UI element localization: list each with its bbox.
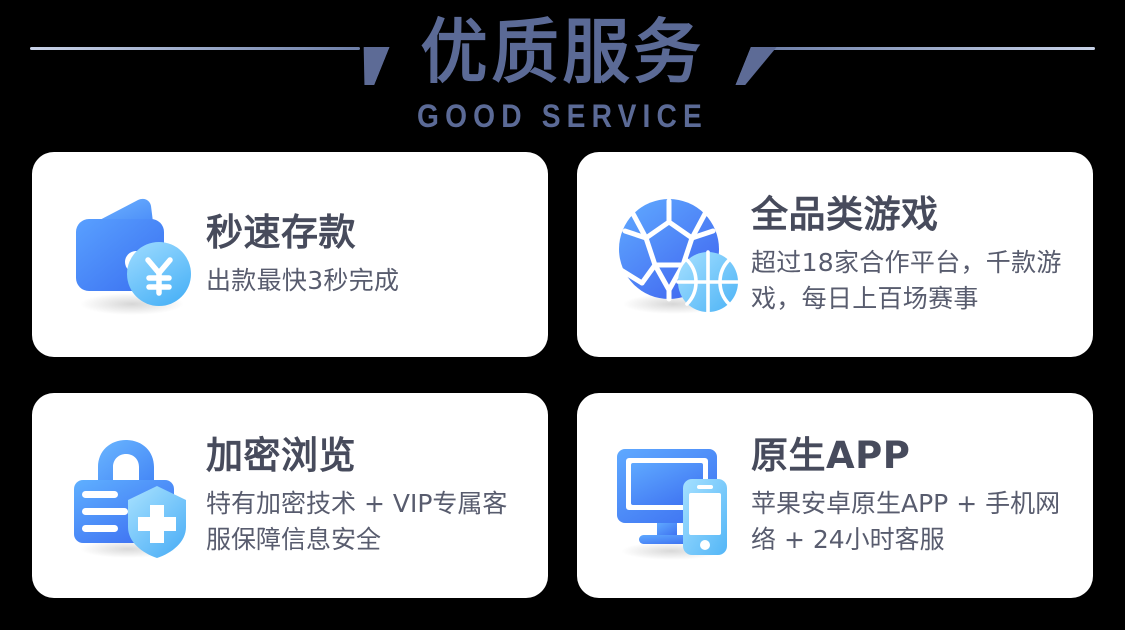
page-header: 优质服务 GOOD SERVICE — [0, 0, 1125, 145]
feature-card-text: 加密浏览 特有加密技术 + VIP专属客服保障信息安全 — [200, 433, 526, 558]
lock-shield-icon — [62, 427, 200, 565]
feature-card-title: 加密浏览 — [206, 433, 526, 479]
feature-card-title: 原生APP — [751, 433, 1071, 479]
feature-card-text: 原生APP 苹果安卓原生APP + 手机网络 + 24小时客服 — [745, 433, 1071, 558]
feature-card-grid: 秒速存款 出款最快3秒完成 — [32, 152, 1093, 598]
feature-card-text: 全品类游戏 超过18家合作平台，千款游戏，每日上百场赛事 — [745, 192, 1071, 317]
feature-card-desc: 苹果安卓原生APP + 手机网络 + 24小时客服 — [751, 486, 1071, 558]
feature-card-native-app[interactable]: 原生APP 苹果安卓原生APP + 手机网络 + 24小时客服 — [577, 393, 1093, 598]
feature-card-all-category-games[interactable]: 全品类游戏 超过18家合作平台，千款游戏，每日上百场赛事 — [577, 152, 1093, 357]
page-title: 优质服务 — [23, 12, 1103, 92]
feature-card-desc: 超过18家合作平台，千款游戏，每日上百场赛事 — [751, 245, 1071, 317]
feature-card-instant-deposit[interactable]: 秒速存款 出款最快3秒完成 — [32, 152, 548, 357]
feature-card-title: 全品类游戏 — [751, 192, 1071, 238]
monitor-phone-icon — [607, 427, 745, 565]
wallet-yen-icon — [62, 186, 200, 324]
feature-card-text: 秒速存款 出款最快3秒完成 — [200, 210, 526, 299]
page-subtitle: GOOD SERVICE — [68, 98, 1058, 134]
feature-card-desc: 特有加密技术 + VIP专属客服保障信息安全 — [206, 486, 526, 558]
feature-card-encrypted-browsing[interactable]: 加密浏览 特有加密技术 + VIP专属客服保障信息安全 — [32, 393, 548, 598]
feature-card-title: 秒速存款 — [206, 210, 526, 256]
soccer-basketball-icon — [607, 186, 745, 324]
feature-card-desc: 出款最快3秒完成 — [206, 263, 526, 299]
